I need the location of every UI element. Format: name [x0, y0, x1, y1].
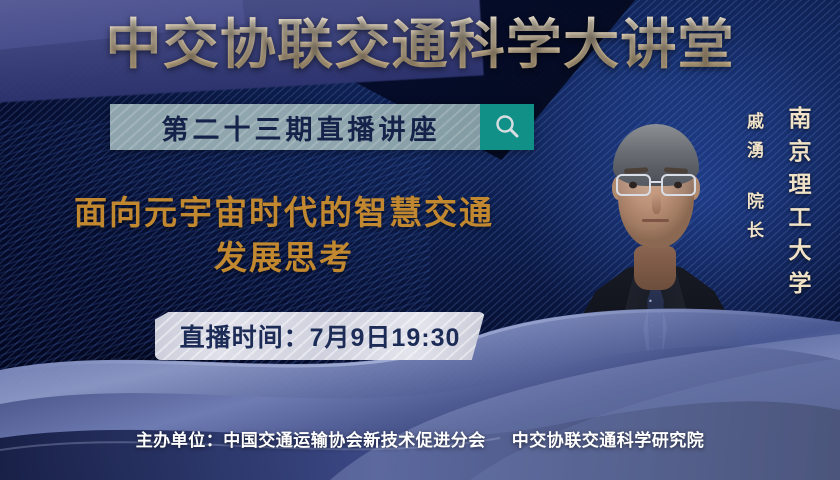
- footer-organizers: 主办单位：中国交通运输协会新技术促进分会中交协联交通科学研究院: [0, 426, 840, 451]
- episode-bar: 第二十三期直播讲座: [110, 104, 534, 150]
- lecture-title-line1: 面向元宇宙时代的智慧交通: [24, 190, 544, 235]
- footer-prefix: 主办单位：: [136, 431, 224, 450]
- speaker-name: 戚湧: [741, 112, 766, 170]
- episode-label: 第二十三期直播讲座: [110, 108, 480, 147]
- footer-org-2: 中交协联交通科学研究院: [512, 431, 705, 450]
- portrait-mouth: [642, 219, 669, 222]
- footer-org-1: 中国交通运输协会新技术促进分会: [223, 431, 486, 450]
- lecture-title-line2: 发展思考: [24, 235, 544, 280]
- portrait-neck: [634, 246, 676, 290]
- glasses-icon: [615, 172, 697, 198]
- page-title: 中交协联交通科学大讲堂: [0, 14, 840, 76]
- lecture-title: 面向元宇宙时代的智慧交通 发展思考: [24, 190, 544, 280]
- speaker-position: 院长: [741, 192, 766, 250]
- broadcast-time-badge: 直播时间：7月9日19:30: [155, 312, 485, 360]
- livestream-poster: 中交协联交通科学大讲堂 第二十三期直播讲座 面向元宇宙时代的智慧交通 发展思考 …: [0, 0, 840, 480]
- search-icon[interactable]: [480, 104, 534, 150]
- broadcast-time-label: 直播时间：7月9日19:30: [180, 318, 461, 354]
- speaker-organization: 南京理工大学: [781, 106, 815, 304]
